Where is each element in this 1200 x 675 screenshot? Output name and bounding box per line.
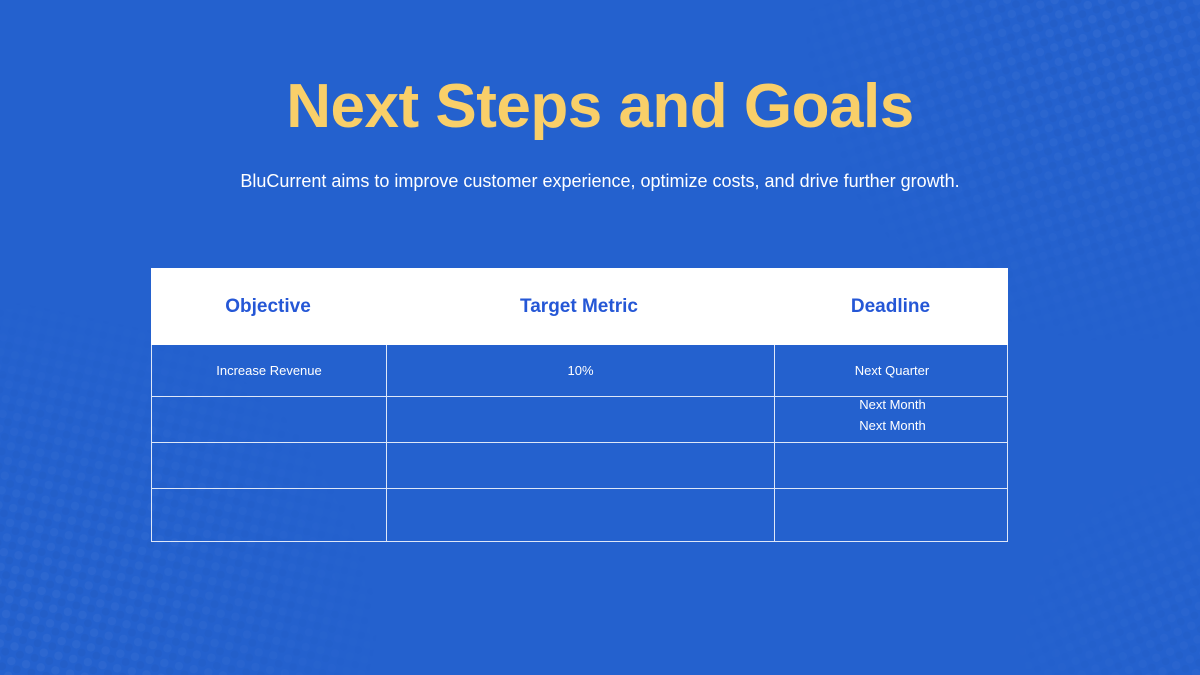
cell-deadline — [774, 397, 1009, 442]
cell-deadline-text: Next Quarter — [855, 363, 929, 378]
table-header-row: Objective Target Metric Deadline — [151, 268, 1008, 345]
cell-deadline — [774, 489, 1009, 541]
table-body: Increase Revenue 10% Next Quarter Next M… — [151, 345, 1008, 542]
cell-objective — [152, 443, 386, 488]
cell-deadline: Next Quarter Next Month Next Month — [774, 345, 1009, 396]
cell-objective: Increase Revenue — [152, 345, 386, 396]
table-row[interactable] — [152, 396, 1007, 442]
cell-target-metric — [386, 443, 774, 488]
cell-target-metric — [386, 489, 774, 541]
column-header-deadline: Deadline — [773, 268, 1008, 345]
cell-deadline — [774, 443, 1009, 488]
cell-objective — [152, 489, 386, 541]
slide-subtitle: BluCurrent aims to improve customer expe… — [232, 168, 968, 195]
slide-title: Next Steps and Goals — [0, 72, 1200, 142]
cell-target-metric: 10% — [386, 345, 774, 396]
column-header-objective: Objective — [151, 268, 385, 345]
column-header-target-metric: Target Metric — [385, 268, 773, 345]
cell-objective — [152, 397, 386, 442]
table-row[interactable] — [152, 442, 1007, 488]
goals-table: Objective Target Metric Deadline Increas… — [151, 268, 1008, 542]
table-row[interactable] — [152, 488, 1007, 541]
cell-target-metric — [386, 397, 774, 442]
table-row[interactable]: Increase Revenue 10% Next Quarter Next M… — [152, 345, 1007, 396]
slide-canvas: Next Steps and Goals BluCurrent aims to … — [0, 0, 1200, 675]
